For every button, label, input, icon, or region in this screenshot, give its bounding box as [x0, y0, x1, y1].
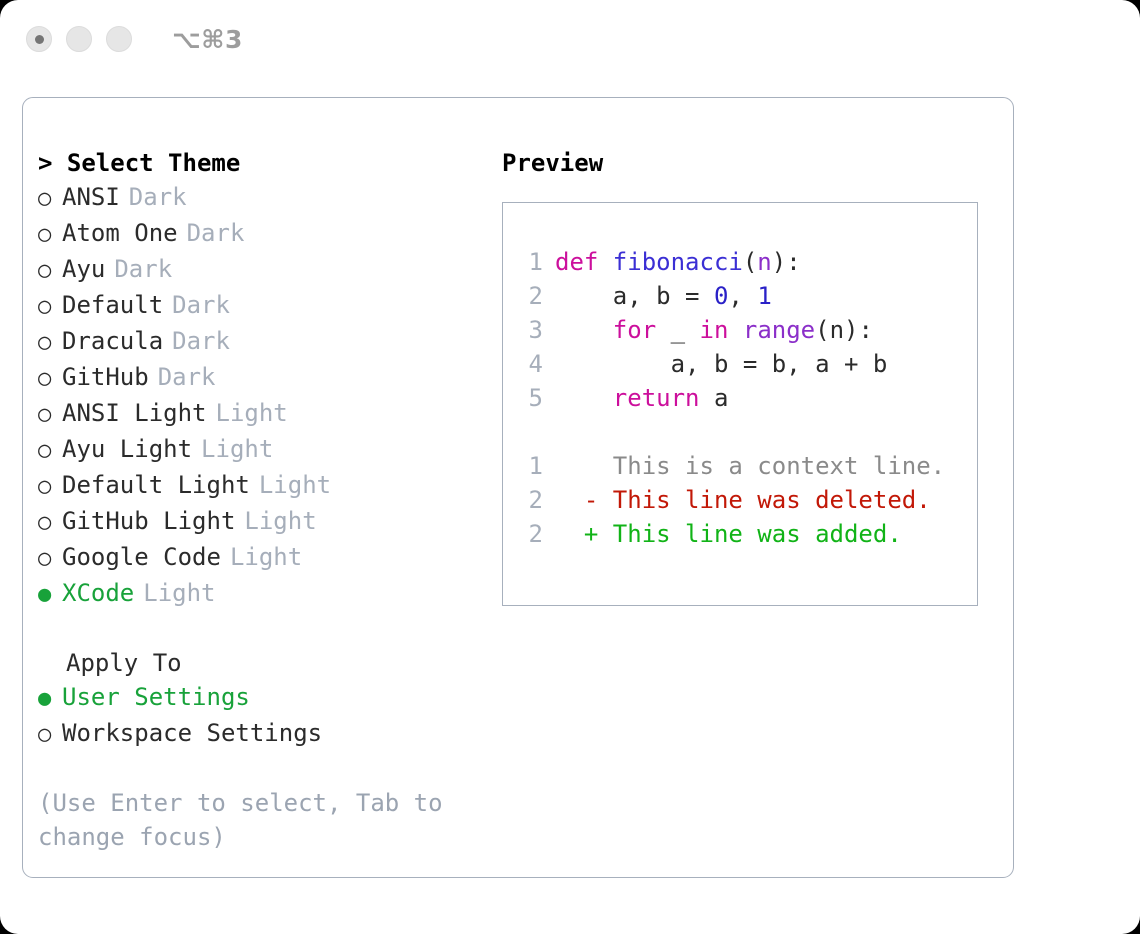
code-token: 0 — [714, 282, 728, 310]
diff-line-content: - This line was deleted. — [555, 483, 931, 517]
theme-option-ansi-light[interactable]: ○ANSI LightLight — [38, 396, 478, 432]
diff-line: 2 + This line was added. — [503, 517, 977, 551]
window-dot-active-icon[interactable] — [26, 26, 52, 52]
hint-spacer — [38, 752, 478, 786]
theme-option-ayu-light[interactable]: ○Ayu LightLight — [38, 432, 478, 468]
code-line-number: 1 — [503, 245, 555, 279]
diff-line-content: + This line was added. — [555, 517, 902, 551]
theme-option-ayu[interactable]: ○AyuDark — [38, 252, 478, 288]
theme-option-label: Atom One — [62, 216, 178, 250]
select-theme-header: > Select Theme — [38, 146, 478, 180]
radio-selected-icon: ● — [38, 578, 62, 612]
code-token: def — [555, 248, 613, 276]
theme-option-xcode[interactable]: ●XCodeLight — [38, 576, 478, 612]
code-line: 4 a, b = b, a + b — [503, 347, 977, 381]
theme-option-google-code[interactable]: ○Google CodeLight — [38, 540, 478, 576]
theme-option-tag: Dark — [172, 324, 230, 358]
code-token: 1 — [757, 282, 771, 310]
list-spacer — [38, 612, 478, 646]
theme-option-label: Default — [62, 288, 163, 322]
preview-header: Preview — [502, 146, 1002, 180]
theme-option-tag: Light — [201, 432, 273, 466]
theme-option-label: GitHub — [62, 360, 149, 394]
theme-option-label: Dracula — [62, 324, 163, 358]
code-token — [555, 384, 613, 412]
radio-unselected-icon: ○ — [38, 326, 62, 360]
code-line: 5 return a — [503, 381, 977, 415]
app-window: ⌥⌘3 > Select Theme ○ANSIDark○Atom OneDar… — [0, 0, 1140, 934]
code-line-number: 2 — [503, 279, 555, 313]
code-token: , — [728, 282, 757, 310]
theme-option-tag: Light — [244, 504, 316, 538]
theme-option-label: Ayu Light — [62, 432, 192, 466]
diff-line-content: This is a context line. — [555, 449, 945, 483]
diff-line: 2 - This line was deleted. — [503, 483, 977, 517]
theme-option-tag: Dark — [172, 288, 230, 322]
radio-unselected-icon: ○ — [38, 434, 62, 468]
radio-selected-icon: ● — [38, 682, 62, 716]
theme-option-label: GitHub Light — [62, 504, 235, 538]
theme-option-label: Google Code — [62, 540, 221, 574]
theme-option-tag: Dark — [129, 180, 187, 214]
code-line-content: def fibonacci(n): — [555, 245, 801, 279]
theme-option-label: Default Light — [62, 468, 250, 502]
theme-option-tag: Dark — [158, 360, 216, 394]
theme-option-label: Ayu — [62, 252, 105, 286]
code-token: n — [757, 248, 771, 276]
theme-option-tag: Light — [259, 468, 331, 502]
code-line-content: for _ in range(n): — [555, 313, 873, 347]
code-line-content: a, b = b, a + b — [555, 347, 887, 381]
title-bar: ⌥⌘3 — [0, 0, 1140, 78]
theme-option-default[interactable]: ○DefaultDark — [38, 288, 478, 324]
code-diff-gap — [503, 415, 977, 449]
apply-to-header: Apply To — [38, 646, 478, 680]
preview-box: 1def fibonacci(n):2 a, b = 0, 13 for _ i… — [502, 202, 978, 606]
code-token — [728, 316, 742, 344]
diff-line-number: 2 — [503, 483, 555, 517]
code-token: a, b = b, a + b — [555, 350, 887, 378]
theme-option-label: XCode — [62, 576, 134, 610]
theme-option-default-light[interactable]: ○Default LightLight — [38, 468, 478, 504]
code-line-content: return a — [555, 381, 728, 415]
window-dot-second-icon[interactable] — [66, 26, 92, 52]
radio-unselected-icon: ○ — [38, 470, 62, 504]
code-token: fibonacci — [613, 248, 743, 276]
radio-unselected-icon: ○ — [38, 506, 62, 540]
code-token: _ — [656, 316, 699, 344]
theme-option-label: ANSI Light — [62, 396, 207, 430]
radio-unselected-icon: ○ — [38, 254, 62, 288]
window-dot-third-icon[interactable] — [106, 26, 132, 52]
radio-unselected-icon: ○ — [38, 718, 62, 752]
code-line-number: 4 — [503, 347, 555, 381]
diff-line: 1 This is a context line. — [503, 449, 977, 483]
apply-to-option-user-settings[interactable]: ●User Settings — [38, 680, 478, 716]
code-token: ( — [743, 248, 757, 276]
code-line: 1def fibonacci(n): — [503, 245, 977, 279]
preview-panel: Preview 1def fibonacci(n):2 a, b = 0, 13… — [502, 146, 1002, 606]
radio-unselected-icon: ○ — [38, 542, 62, 576]
radio-unselected-icon: ○ — [38, 398, 62, 432]
radio-unselected-icon: ○ — [38, 182, 62, 216]
diff-line-number: 2 — [503, 517, 555, 551]
theme-option-dracula[interactable]: ○DraculaDark — [38, 324, 478, 360]
code-token — [555, 316, 613, 344]
window-controls — [26, 26, 132, 52]
code-token: a — [700, 384, 729, 412]
main-card: > Select Theme ○ANSIDark○Atom OneDark○Ay… — [22, 97, 1014, 878]
radio-unselected-icon: ○ — [38, 362, 62, 396]
theme-option-tag: Light — [143, 576, 215, 610]
theme-option-tag: Dark — [187, 216, 245, 250]
window-dot-inner-icon — [35, 35, 44, 44]
code-token: a, b = — [555, 282, 714, 310]
code-token: return — [613, 384, 700, 412]
radio-unselected-icon: ○ — [38, 218, 62, 252]
code-token: in — [700, 316, 729, 344]
code-line-content: a, b = 0, 1 — [555, 279, 772, 313]
keyboard-shortcut-label: ⌥⌘3 — [172, 25, 243, 54]
diff-sample: 1 This is a context line.2 - This line w… — [503, 449, 977, 551]
theme-option-label: ANSI — [62, 180, 120, 214]
apply-to-option-workspace-settings[interactable]: ○Workspace Settings — [38, 716, 478, 752]
code-token: range — [743, 316, 815, 344]
radio-unselected-icon: ○ — [38, 290, 62, 324]
code-line-number: 3 — [503, 313, 555, 347]
code-line: 3 for _ in range(n): — [503, 313, 977, 347]
theme-option-ansi[interactable]: ○ANSIDark — [38, 180, 478, 216]
keyboard-hint: (Use Enter to select, Tab to change focu… — [38, 786, 450, 854]
code-token: ): — [772, 248, 801, 276]
code-token: (n): — [815, 316, 873, 344]
code-token: for — [613, 316, 656, 344]
theme-list: ○ANSIDark○Atom OneDark○AyuDark○DefaultDa… — [38, 180, 478, 612]
code-sample: 1def fibonacci(n):2 a, b = 0, 13 for _ i… — [503, 245, 977, 415]
apply-to-list: ●User Settings○Workspace Settings — [38, 680, 478, 752]
theme-option-tag: Light — [230, 540, 302, 574]
theme-option-atom-one[interactable]: ○Atom OneDark — [38, 216, 478, 252]
diff-line-number: 1 — [503, 449, 555, 483]
code-line-number: 5 — [503, 381, 555, 415]
apply-to-option-label: Workspace Settings — [62, 716, 322, 750]
theme-option-github[interactable]: ○GitHubDark — [38, 360, 478, 396]
theme-option-tag: Light — [216, 396, 288, 430]
theme-option-github-light[interactable]: ○GitHub LightLight — [38, 504, 478, 540]
apply-to-option-label: User Settings — [62, 680, 250, 714]
theme-selection-panel: > Select Theme ○ANSIDark○Atom OneDark○Ay… — [38, 146, 478, 854]
theme-option-tag: Dark — [114, 252, 172, 286]
code-line: 2 a, b = 0, 1 — [503, 279, 977, 313]
